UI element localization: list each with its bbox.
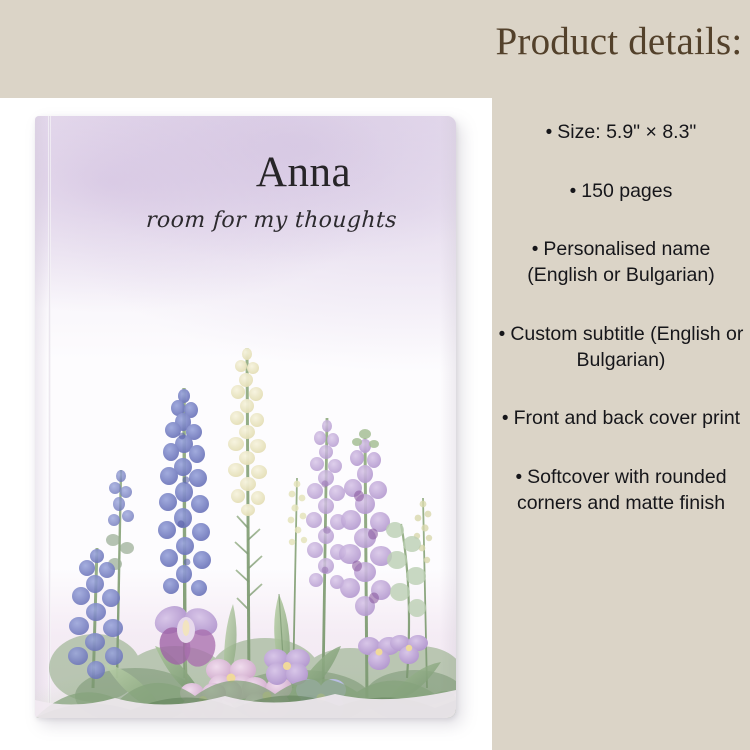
bullet-icon: • <box>546 122 553 143</box>
cover-text-block: Anna room for my thoughts <box>35 150 456 233</box>
notebook-cover-image: Anna room for my thoughts <box>35 116 456 718</box>
list-item-label: Personalised name (English or Bulgarian) <box>527 238 715 286</box>
list-item-label: Size: 5.9" × 8.3" <box>557 121 696 143</box>
list-item: •Custom subtitle (English or Bulgarian) <box>492 322 750 373</box>
list-item: •150 pages <box>492 179 750 205</box>
list-item: •Personalised name (English or Bulgarian… <box>492 237 750 288</box>
list-item-label: Softcover with rounded corners and matte… <box>517 466 727 514</box>
list-item-label: Front and back cover print <box>514 407 741 429</box>
wildflower-illustration <box>35 248 456 718</box>
list-item-label: 150 pages <box>581 180 672 202</box>
cover-personalised-name: Anna <box>81 150 456 195</box>
bullet-icon: • <box>502 408 509 429</box>
cover-subtitle: room for my thoughts <box>80 209 456 233</box>
product-details-list: •Size: 5.9" × 8.3" •150 pages •Personali… <box>492 120 750 550</box>
list-item: •Softcover with rounded corners and matt… <box>492 465 750 516</box>
bullet-icon: • <box>499 324 506 345</box>
bullet-icon: • <box>570 181 577 202</box>
page-title: Product details: <box>488 20 750 65</box>
bullet-icon: • <box>515 467 522 488</box>
list-item: •Front and back cover print <box>492 406 750 432</box>
bullet-icon: • <box>532 239 539 260</box>
list-item: •Size: 5.9" × 8.3" <box>492 120 750 146</box>
list-item-label: Custom subtitle (English or Bulgarian) <box>510 323 743 371</box>
